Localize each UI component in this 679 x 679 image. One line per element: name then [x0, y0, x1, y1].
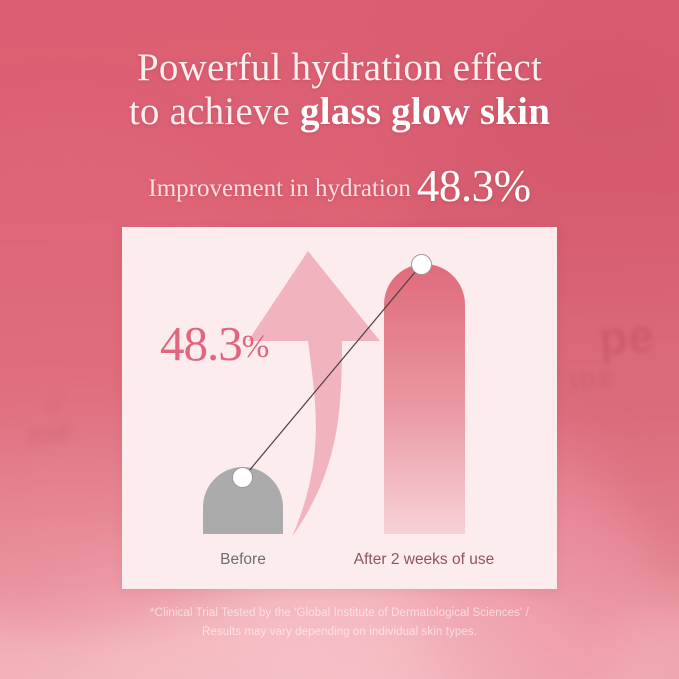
axis-label-before: Before — [183, 551, 303, 569]
axis-label-after: After 2 weeks of use — [344, 551, 504, 569]
headline: Powerful hydration effect to achieve gla… — [0, 46, 679, 135]
subline-value: 48.3% — [417, 161, 531, 211]
headline-line-1: Powerful hydration effect — [0, 46, 679, 90]
bar-after — [384, 264, 465, 534]
headline-line-2: to achieve glass glow skin — [0, 90, 679, 134]
improvement-value: 48.3% — [160, 319, 268, 368]
subline: Improvement in hydration48.3% — [0, 160, 679, 212]
connector-line — [122, 227, 557, 589]
chart-area: 48.3% Before After 2 weeks of use — [122, 227, 557, 589]
headline-line-2-prefix: to achieve — [129, 90, 300, 133]
improvement-number: 48.3 — [160, 316, 242, 371]
chart-card: 48.3% Before After 2 weeks of use — [122, 227, 557, 589]
poster-canvas: pe IDE me // Powerful hydration effect t… — [0, 0, 679, 679]
footnote-line-1: *Clinical Trial Tested by the 'Global In… — [0, 604, 679, 623]
data-point-before — [232, 467, 253, 488]
data-point-after — [411, 254, 432, 275]
footnote: *Clinical Trial Tested by the 'Global In… — [0, 604, 679, 642]
headline-line-2-strong: glass glow skin — [300, 90, 550, 133]
footnote-line-2: Results may vary depending on individual… — [0, 623, 679, 642]
percent-symbol: % — [242, 329, 269, 365]
subline-text: Improvement in hydration — [148, 175, 410, 202]
